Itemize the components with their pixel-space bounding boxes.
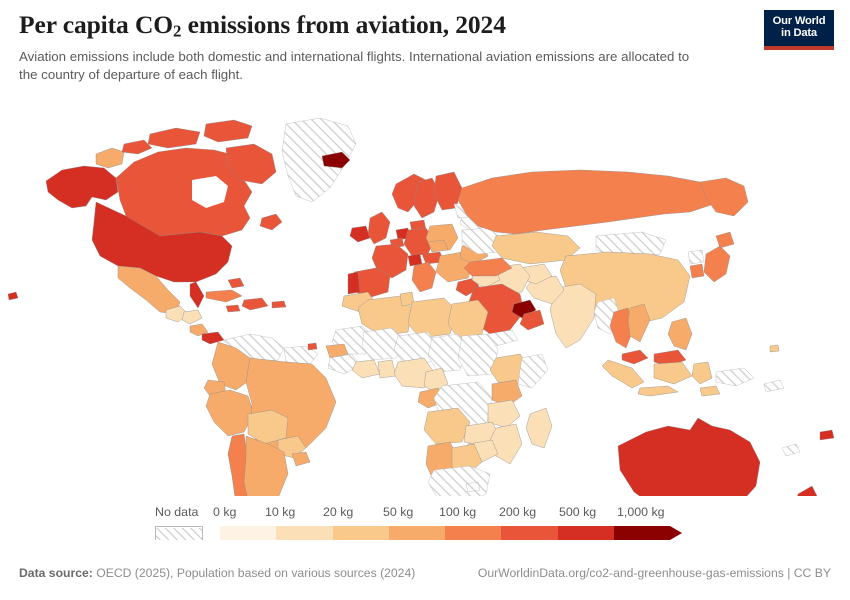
- legend-no-data-label: No data: [155, 505, 198, 519]
- world-map[interactable]: [0, 96, 850, 496]
- legend-bin-10[interactable]: [276, 526, 332, 540]
- country-russia-far-east[interactable]: [700, 178, 748, 216]
- chart-header: Per capita CO2 emissions from aviation, …: [19, 10, 831, 83]
- owid-logo[interactable]: Our World in Data: [764, 10, 834, 50]
- country-peru[interactable]: [206, 390, 254, 436]
- country-canada-arctic-3[interactable]: [122, 140, 152, 154]
- island-hawaii: [8, 292, 18, 300]
- country-russia[interactable]: [458, 170, 718, 234]
- country-ivory-coast[interactable]: [352, 360, 380, 378]
- country-cuba[interactable]: [206, 290, 242, 302]
- country-puerto-rico[interactable]: [272, 301, 286, 308]
- country-mozambique[interactable]: [490, 424, 522, 464]
- country-alaska[interactable]: [46, 166, 118, 208]
- legend-tick-100: 100 kg: [439, 505, 476, 519]
- country-philippines[interactable]: [668, 318, 692, 350]
- country-indonesia-java[interactable]: [638, 386, 678, 396]
- country-canada-newfoundland[interactable]: [260, 214, 282, 230]
- country-japan-north[interactable]: [716, 232, 734, 248]
- owid-choropleth-chart: Per capita CO2 emissions from aviation, …: [0, 0, 850, 600]
- legend-bin-50[interactable]: [389, 526, 445, 540]
- map-countries[interactable]: [8, 118, 834, 496]
- country-hispaniola[interactable]: [242, 298, 268, 310]
- country-madagascar[interactable]: [526, 408, 552, 448]
- island-marshall: [770, 345, 779, 352]
- title-suffix: emissions from aviation, 2024: [181, 10, 506, 39]
- legend-tick-500: 500 kg: [559, 505, 596, 519]
- attribution-link[interactable]: OurWorldinData.org/co2-and-greenhouse-ga…: [478, 566, 831, 580]
- legend-color-bins[interactable]: [220, 526, 670, 540]
- no-data-hatch-icon: [156, 528, 202, 540]
- country-canada-arctic-2[interactable]: [204, 120, 252, 142]
- country-libya[interactable]: [408, 298, 456, 338]
- country-solomon-islands[interactable]: [764, 380, 784, 392]
- country-south-korea[interactable]: [690, 264, 704, 278]
- country-canada-arctic-1[interactable]: [148, 128, 200, 148]
- legend-bin-200[interactable]: [501, 526, 557, 540]
- legend-bin-20[interactable]: [333, 526, 389, 540]
- country-somalia[interactable]: [518, 354, 548, 388]
- island-cape-verde: [308, 343, 317, 350]
- legend-labels: No data 0 kg 10 kg 20 kg 50 kg 100 kg 20…: [155, 505, 715, 523]
- map-svg[interactable]: [0, 96, 850, 496]
- page-title: Per capita CO2 emissions from aviation, …: [19, 10, 831, 41]
- country-indonesia-sumatra[interactable]: [602, 360, 644, 388]
- country-lesotho[interactable]: [466, 482, 480, 492]
- country-indonesia-sulawesi[interactable]: [692, 362, 712, 384]
- country-egypt[interactable]: [448, 300, 488, 338]
- country-papua-new-guinea[interactable]: [716, 368, 754, 386]
- country-honduras[interactable]: [182, 310, 202, 324]
- data-source-text: OECD (2025), Population based on various…: [93, 566, 415, 580]
- country-alaska-panhandle[interactable]: [96, 148, 124, 168]
- legend-bin-1000[interactable]: [614, 526, 670, 540]
- country-ireland[interactable]: [350, 226, 370, 242]
- legend-bin-100[interactable]: [445, 526, 501, 540]
- country-new-caledonia[interactable]: [782, 444, 800, 456]
- country-united-kingdom[interactable]: [368, 212, 390, 244]
- country-fiji[interactable]: [820, 430, 834, 440]
- country-south-africa[interactable]: [428, 466, 490, 496]
- chart-footer: Data source: OECD (2025), Population bas…: [19, 566, 831, 580]
- country-timor[interactable]: [700, 386, 720, 396]
- country-japan[interactable]: [704, 246, 730, 282]
- data-source-label: Data source:: [19, 566, 93, 580]
- title-prefix: Per capita CO: [19, 10, 173, 39]
- country-malaysia[interactable]: [622, 350, 648, 364]
- legend-tick-200: 200 kg: [499, 505, 536, 519]
- logo-line-2: in Data: [781, 28, 817, 40]
- country-uruguay[interactable]: [292, 452, 310, 466]
- country-portugal[interactable]: [348, 272, 360, 294]
- legend-bin-500[interactable]: [558, 526, 614, 540]
- country-australia[interactable]: [618, 418, 760, 496]
- country-indonesia-borneo[interactable]: [654, 362, 692, 384]
- country-north-korea[interactable]: [688, 250, 704, 264]
- country-bahamas[interactable]: [228, 278, 244, 288]
- legend-tick-1000: 1,000 kg: [617, 505, 665, 519]
- country-new-zealand-north[interactable]: [796, 486, 818, 496]
- country-italy[interactable]: [412, 262, 436, 292]
- country-jamaica[interactable]: [226, 305, 240, 312]
- legend-bin-0[interactable]: [220, 526, 276, 540]
- legend-tick-50: 50 kg: [383, 505, 413, 519]
- chart-subtitle: Aviation emissions include both domestic…: [19, 48, 697, 83]
- country-panama[interactable]: [202, 332, 224, 344]
- data-source: Data source: OECD (2025), Population bas…: [19, 566, 415, 580]
- map-legend[interactable]: No data 0 kg 10 kg 20 kg 50 kg 100 kg 20…: [0, 505, 850, 551]
- legend-tick-20: 20 kg: [323, 505, 353, 519]
- country-ghana[interactable]: [378, 360, 396, 378]
- legend-tick-10: 10 kg: [265, 505, 295, 519]
- country-florida[interactable]: [190, 282, 204, 308]
- legend-tick-0: 0 kg: [213, 505, 236, 519]
- legend-open-ended-arrow: [670, 526, 682, 540]
- legend-no-data-swatch[interactable]: [155, 526, 203, 540]
